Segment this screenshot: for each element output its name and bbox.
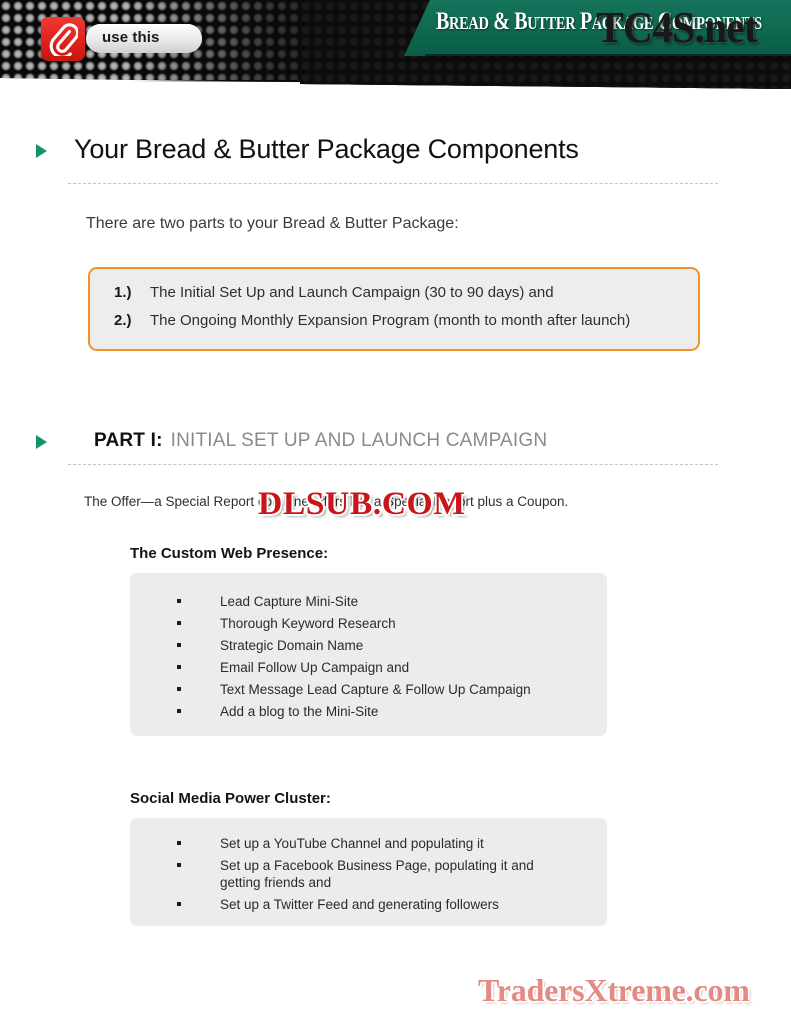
footer-watermark: TradersXtreme.com [478, 972, 750, 1009]
list-item: Thorough Keyword Research [177, 615, 587, 632]
intro-paragraph: There are two parts to your Bread & Butt… [86, 215, 459, 233]
square-bullet-icon [177, 599, 181, 603]
square-bullet-icon [177, 902, 181, 906]
list-item-label: Strategic Domain Name [220, 637, 363, 654]
use-this-label: use this [102, 29, 159, 46]
list-item: Set up a Twitter Feed and generating fol… [177, 896, 577, 913]
offer-paragraph: The Offer—a Special Report combine offer… [84, 492, 724, 511]
list-item: Strategic Domain Name [177, 637, 587, 654]
web-presence-box: Lead Capture Mini-Site Thorough Keyword … [130, 573, 607, 736]
triangle-bullet-icon [36, 144, 47, 158]
list-item-label: Set up a Twitter Feed and generating fol… [220, 896, 499, 913]
list-item: Text Message Lead Capture & Follow Up Ca… [177, 681, 587, 698]
square-bullet-icon [177, 621, 181, 625]
square-bullet-icon [177, 687, 181, 691]
list-item: Add a blog to the Mini-Site [177, 703, 587, 720]
square-bullet-icon [177, 665, 181, 669]
parts-callout-box: 1.) The Initial Set Up and Launch Campai… [88, 267, 700, 351]
square-bullet-icon [177, 643, 181, 647]
list-item-label: Set up a YouTube Channel and populating … [220, 835, 484, 852]
page-title: Your Bread & Butter Package Components [74, 134, 579, 165]
list-item: Email Follow Up Campaign and [177, 659, 587, 676]
social-cluster-heading: Social Media Power Cluster: [130, 790, 331, 807]
list-item: Lead Capture Mini-Site [177, 593, 587, 610]
page-title-row: Your Bread & Butter Package Components [36, 134, 579, 165]
header-green-banner-shadow [404, 54, 791, 64]
list-item-label: Add a blog to the Mini-Site [220, 703, 378, 720]
square-bullet-icon [177, 709, 181, 713]
square-bullet-icon [177, 863, 181, 867]
parts-item-number: 2.) [114, 312, 150, 329]
parts-item-number: 1.) [114, 284, 150, 301]
list-item-label: Lead Capture Mini-Site [220, 593, 358, 610]
parts-item-text: The Ongoing Monthly Expansion Program (m… [150, 312, 630, 329]
page-header: Bread & Butter Package Components use th… [0, 0, 791, 92]
parts-list-item: 1.) The Initial Set Up and Launch Campai… [114, 284, 554, 301]
part-one-heading-row: PART I: INITIAL SET UP AND LAUNCH CAMPAI… [36, 430, 547, 452]
list-item-label: Set up a Facebook Business Page, populat… [220, 857, 577, 891]
parts-item-text: The Initial Set Up and Launch Campaign (… [150, 284, 554, 301]
list-item-label: Email Follow Up Campaign and [220, 659, 409, 676]
list-item: Set up a Facebook Business Page, populat… [177, 857, 577, 891]
paperclip-badge[interactable] [41, 17, 85, 61]
triangle-bullet-icon [36, 435, 47, 449]
part-one-subtitle: INITIAL SET UP AND LAUNCH CAMPAIGN [171, 430, 548, 452]
part-one-divider [68, 464, 718, 465]
header-banner-title: Bread & Butter Package Components [436, 8, 724, 36]
list-item-label: Thorough Keyword Research [220, 615, 396, 632]
list-item-label: Text Message Lead Capture & Follow Up Ca… [220, 681, 531, 698]
social-cluster-box: Set up a YouTube Channel and populating … [130, 818, 607, 926]
parts-list-item: 2.) The Ongoing Monthly Expansion Progra… [114, 312, 630, 329]
list-item: Set up a YouTube Channel and populating … [177, 835, 577, 852]
part-one-label: PART I: [94, 430, 163, 452]
square-bullet-icon [177, 841, 181, 845]
title-divider [68, 183, 718, 184]
web-presence-heading: The Custom Web Presence: [130, 545, 328, 562]
